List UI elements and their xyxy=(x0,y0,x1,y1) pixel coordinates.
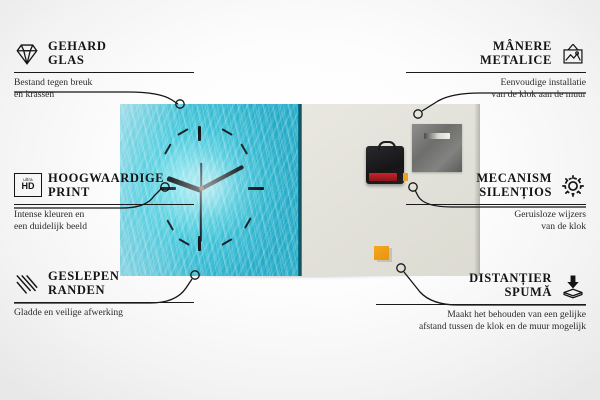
feature-desc: Eenvoudige installatie van de klok aan d… xyxy=(406,77,586,100)
feature-manere-metalice: MÂNERE METALICE Eenvoudige installatie v… xyxy=(406,40,586,100)
feature-header: MÂNERE METALICE xyxy=(406,40,586,67)
feature-mecanism-silentios: MECANISM SILENȚIOS Geruisloze wijzers va… xyxy=(406,172,586,232)
infographic-canvas: GEHARD GLAS Bestand tegen breuk en krass… xyxy=(0,0,600,400)
hd-label: HD xyxy=(22,182,35,191)
feature-header: MECANISM SILENȚIOS xyxy=(406,172,586,199)
feature-geslepen-randen: GESLEPEN RANDEN Gladde en veilige afwerk… xyxy=(14,270,194,319)
quartz-clock-mechanism xyxy=(366,146,404,184)
feature-header: GESLEPEN RANDEN xyxy=(14,270,194,297)
feature-gehard-glas: GEHARD GLAS Bestand tegen breuk en krass… xyxy=(14,40,194,100)
foam-spacer-icon xyxy=(560,273,586,299)
feature-desc: Bestand tegen breuk en krassen xyxy=(14,77,194,100)
feature-title: MECANISM SILENȚIOS xyxy=(476,172,552,199)
divider xyxy=(14,302,194,303)
feature-title: MÂNERE METALICE xyxy=(480,40,552,67)
feature-title: HOOGWAARDIGE PRINT xyxy=(48,172,164,199)
feature-header: ultra HD HOOGWAARDIGE PRINT xyxy=(14,172,194,199)
divider xyxy=(14,72,194,73)
metal-hanger-plate xyxy=(412,124,462,172)
wall-mount-picture-icon xyxy=(560,41,586,67)
divider xyxy=(406,204,586,205)
feature-desc: Gladde en veilige afwerking xyxy=(14,307,194,319)
feature-desc: Geruisloze wijzers van de klok xyxy=(406,209,586,232)
ground-edges-icon xyxy=(14,271,40,297)
hanger-slot xyxy=(424,133,450,139)
feature-title: DISTANȚIER SPUMĂ xyxy=(469,272,552,299)
feature-title: GESLEPEN RANDEN xyxy=(48,270,120,297)
ultra-hd-icon: ultra HD xyxy=(14,173,40,199)
mechanism-loop xyxy=(378,141,396,151)
feature-desc: Intense kleuren en een duidelijk beeld xyxy=(14,209,194,232)
feature-distantier-spuma: DISTANȚIER SPUMĂ Maakt het behouden van … xyxy=(376,272,586,332)
feature-desc: Maakt het behouden van een gelijke afsta… xyxy=(376,309,586,332)
feature-header: GEHARD GLAS xyxy=(14,40,194,67)
orange-foam-spacer xyxy=(374,246,389,260)
diamond-icon xyxy=(14,41,40,67)
divider xyxy=(376,304,586,305)
divider xyxy=(14,204,194,205)
feature-title: GEHARD GLAS xyxy=(48,40,106,67)
aa-battery xyxy=(369,173,397,181)
feature-hoogwaardige-print: ultra HD HOOGWAARDIGE PRINT Intense kleu… xyxy=(14,172,194,232)
feature-header: DISTANȚIER SPUMĂ xyxy=(376,272,586,299)
gear-icon xyxy=(560,173,586,199)
divider xyxy=(406,72,586,73)
